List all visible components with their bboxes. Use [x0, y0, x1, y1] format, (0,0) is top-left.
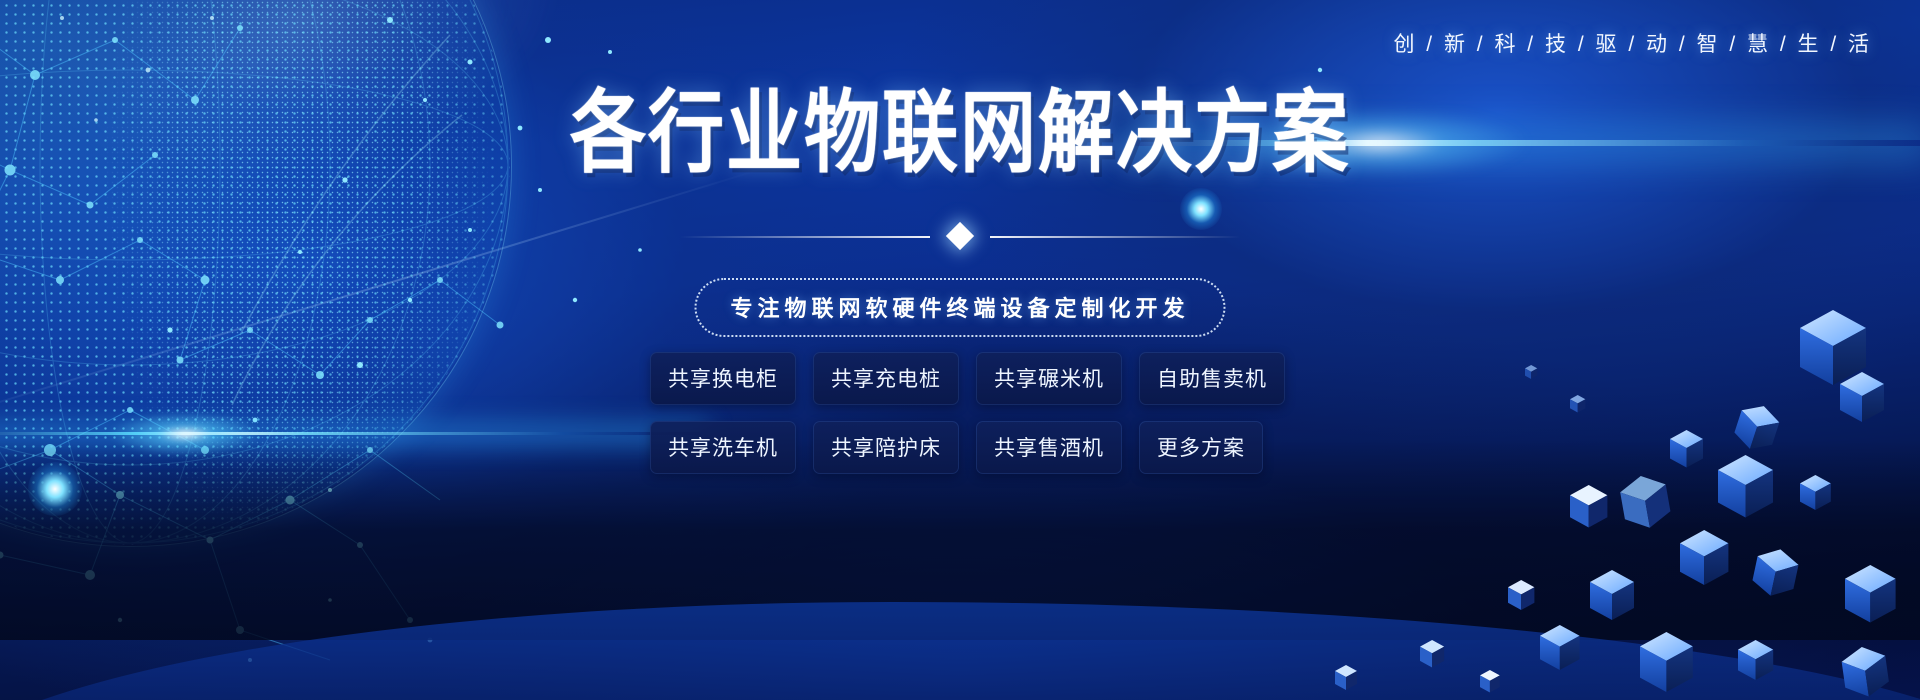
solution-tag-button[interactable]: 共享售酒机: [976, 421, 1122, 474]
solution-tag-button[interactable]: 共享换电柜: [650, 352, 796, 405]
decorative-divider: [680, 226, 1240, 248]
solution-tag-row-1: 共享换电柜 共享充电桩 共享碾米机 自助售卖机: [650, 352, 1270, 405]
page-title: 各行业物联网解决方案: [570, 89, 1350, 179]
banner-subtitle: 专注物联网软硬件终端设备定制化开发: [694, 278, 1225, 337]
solution-tag-button[interactable]: 共享陪护床: [813, 421, 959, 474]
solution-tag-button[interactable]: 共享碾米机: [976, 352, 1122, 405]
solution-tag-button[interactable]: 自助售卖机: [1139, 352, 1285, 405]
solution-tag-list: 共享换电柜 共享充电桩 共享碾米机 自助售卖机 共享洗车机 共享陪护床 共享售酒…: [650, 352, 1270, 490]
diamond-icon: [946, 222, 974, 250]
solution-tag-button[interactable]: 共享充电桩: [813, 352, 959, 405]
hero-banner: 创 / 新 / 科 / 技 / 驱 / 动 / 智 / 慧 / 生 / 活 各行…: [0, 0, 1920, 700]
banner-content: 创 / 新 / 科 / 技 / 驱 / 动 / 智 / 慧 / 生 / 活 各行…: [0, 0, 1920, 700]
solution-tag-button[interactable]: 更多方案: [1139, 421, 1263, 474]
solution-tag-button[interactable]: 共享洗车机: [650, 421, 796, 474]
divider-line-right: [990, 236, 1240, 238]
divider-line-left: [680, 236, 930, 238]
headline-container: 各行业物联网解决方案: [0, 96, 1920, 172]
banner-tagline: 创 / 新 / 科 / 技 / 驱 / 动 / 智 / 慧 / 生 / 活: [1393, 28, 1872, 58]
solution-tag-row-2: 共享洗车机 共享陪护床 共享售酒机 更多方案: [650, 421, 1270, 474]
